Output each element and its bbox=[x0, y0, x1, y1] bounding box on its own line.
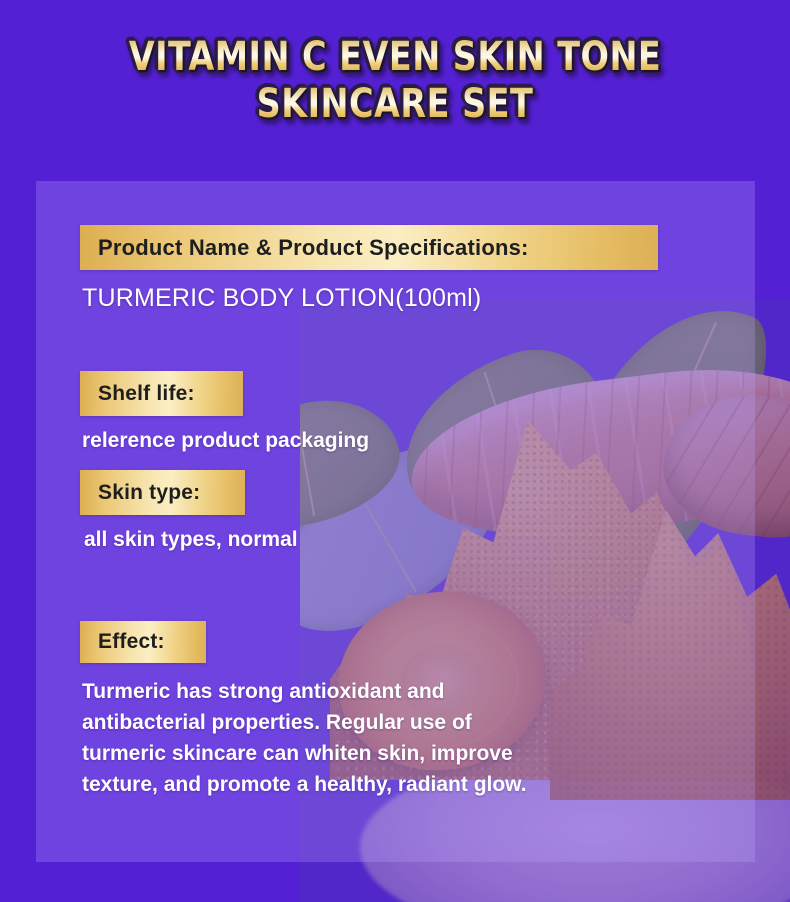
page-title: VITAMIN C EVEN SKIN TONE SKINCARE SET bbox=[28, 34, 763, 128]
effect-value: Turmeric has strong antioxidant and anti… bbox=[82, 676, 552, 800]
page-title-line-1: VITAMIN C EVEN SKIN TONE bbox=[28, 34, 763, 81]
shelf-life-label-text: Shelf life: bbox=[98, 382, 195, 406]
spec-label-text: Product Name & Product Specifications: bbox=[98, 235, 529, 261]
effect-label-chip: Effect: bbox=[80, 621, 206, 663]
effect-label-text: Effect: bbox=[98, 630, 165, 654]
product-detail-poster: VITAMIN C EVEN SKIN TONE SKINCARE SET Pr… bbox=[0, 0, 790, 902]
shelf-life-value: relerence product packaging bbox=[82, 429, 369, 453]
page-title-line-2: SKINCARE SET bbox=[28, 81, 763, 128]
spec-value: TURMERIC BODY LOTION(100ml) bbox=[82, 284, 481, 313]
shelf-life-label-chip: Shelf life: bbox=[80, 371, 243, 416]
skin-type-label-chip: Skin type: bbox=[80, 470, 245, 515]
spec-label-chip: Product Name & Product Specifications: bbox=[80, 225, 658, 270]
skin-type-value: all skin types, normal bbox=[84, 528, 298, 552]
skin-type-label-text: Skin type: bbox=[98, 481, 200, 505]
